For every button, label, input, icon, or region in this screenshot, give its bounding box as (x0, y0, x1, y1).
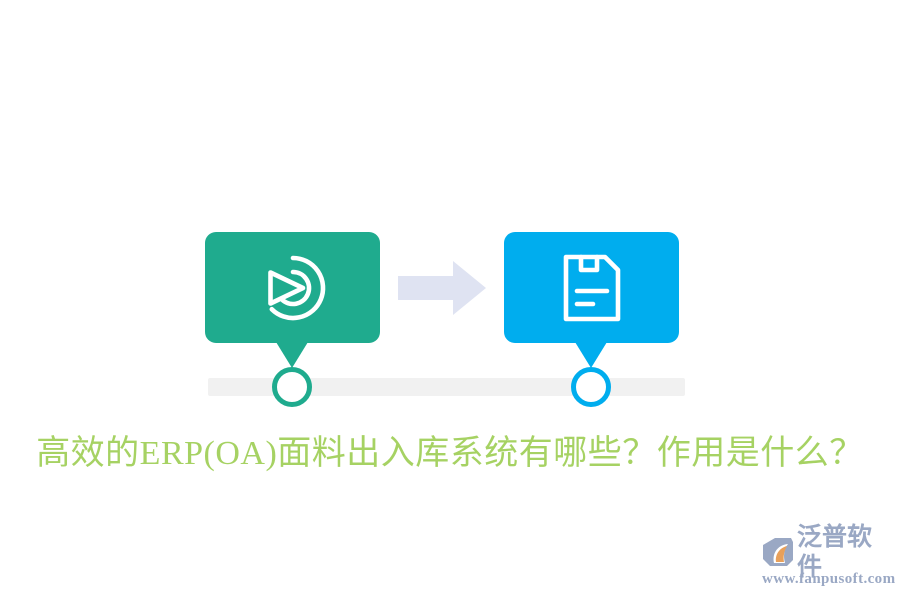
fanpu-logo-icon (762, 537, 794, 567)
step-card-1[interactable] (205, 232, 380, 343)
arrow-right-icon (398, 258, 488, 318)
broadcast-signal-icon (205, 232, 380, 343)
diagram-canvas: 高效的ERP(OA)面料出入库系统有哪些？作用是什么？ 泛普软件 www.fan… (0, 0, 900, 600)
watermark-url: www.fanpusoft.com (762, 569, 892, 589)
watermark-brand-row: 泛普软件 (762, 535, 892, 569)
step-card-1-pointer (276, 342, 308, 368)
page-title: 高效的ERP(OA)面料出入库系统有哪些？作用是什么？ (0, 428, 900, 480)
document-file-icon (504, 232, 679, 343)
watermark: 泛普软件 www.fanpusoft.com (762, 535, 892, 593)
timeline-marker-1[interactable] (272, 367, 312, 407)
step-card-2-pointer (575, 342, 607, 368)
timeline-marker-2[interactable] (571, 367, 611, 407)
step-card-2[interactable] (504, 232, 679, 343)
